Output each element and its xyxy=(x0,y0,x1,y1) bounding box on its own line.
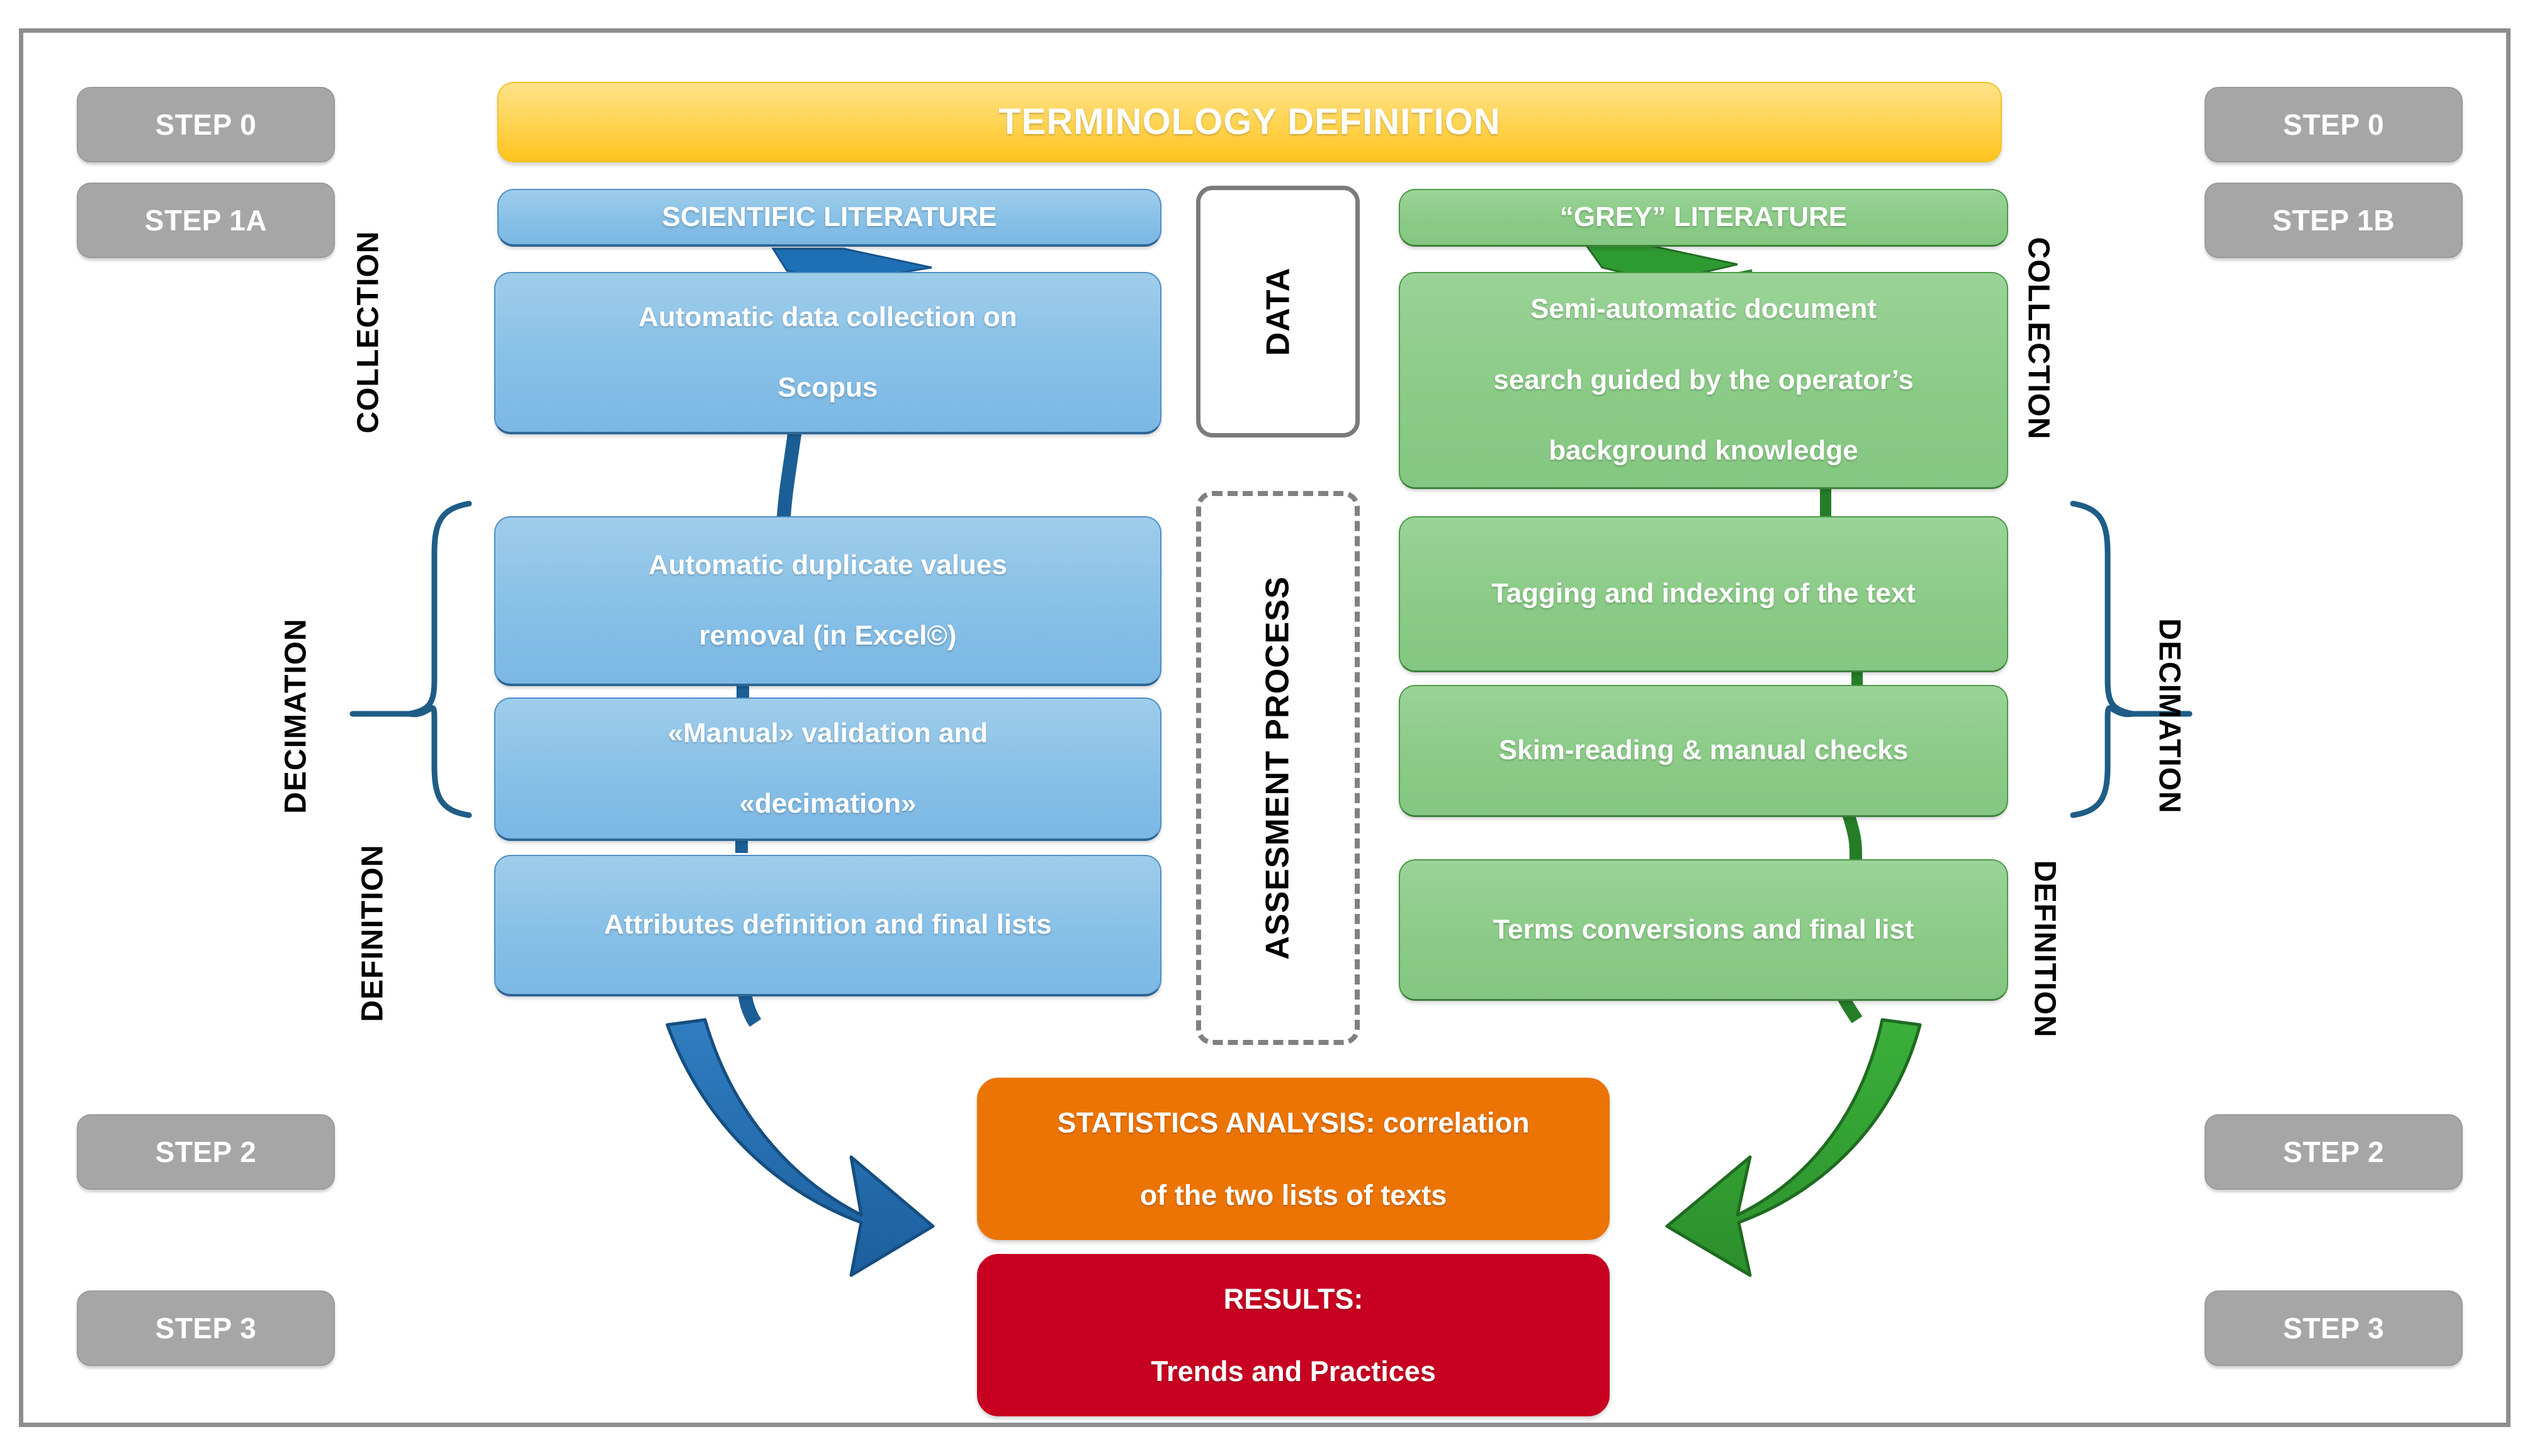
scientific-literature-label: SCIENTIFIC LITERATURE xyxy=(512,200,1146,235)
left-phase-label-decimation: DECIMATION xyxy=(279,578,314,855)
step-badge-right-2[interactable]: STEP 2 xyxy=(2205,1114,2463,1190)
results-label: RESULTS: Trends and Practices xyxy=(992,1281,1595,1390)
semi-auto-search-box: Semi-automatic document search guided by… xyxy=(1399,272,2008,489)
left-phase-label-collection: COLLECTION xyxy=(351,200,386,465)
semi-auto-search-label: Semi-automatic document search guided by… xyxy=(1414,291,1993,469)
skim-reading-label: Skim-reading & manual checks xyxy=(1414,733,1993,768)
duplicate-removal-label: Automatic duplicate values removal (in E… xyxy=(509,548,1146,654)
step-badge-left-2[interactable]: STEP 2 xyxy=(77,1114,335,1190)
right-phase-label-definition: DEFINITION xyxy=(2028,817,2062,1081)
step-badge-right-0[interactable]: STEP 0 xyxy=(2205,87,2463,162)
tagging-indexing-box: Tagging and indexing of the text xyxy=(1399,516,2008,672)
auto-collection-label: Automatic data collection on Scopus xyxy=(509,300,1146,406)
attributes-final-label: Attributes definition and final lists xyxy=(509,907,1146,942)
tagging-indexing-label: Tagging and indexing of the text xyxy=(1414,576,1993,611)
manual-validation-box: «Manual» validation and «decimation» xyxy=(494,697,1161,841)
data-container: DATA xyxy=(1196,186,1360,437)
terms-conversion-label: Terms conversions and final list xyxy=(1414,912,1993,947)
left-phase-label-definition: DEFINITION xyxy=(356,801,390,1066)
right-phase-label-collection: COLLECTION xyxy=(2021,206,2056,471)
scientific-literature-box: SCIENTIFIC LITERATURE xyxy=(497,189,1161,247)
statistics-analysis-box: STATISTICS ANALYSIS: correlation of the … xyxy=(977,1078,1610,1240)
step-badge-right-1b[interactable]: STEP 1B xyxy=(2205,183,2463,258)
right-phase-label-decimation: DECIMATION xyxy=(2152,578,2187,855)
skim-reading-box: Skim-reading & manual checks xyxy=(1399,685,2008,817)
grey-literature-box: “GREY” LITERATURE xyxy=(1399,189,2008,247)
auto-collection-box: Automatic data collection on Scopus xyxy=(494,272,1161,434)
diagram-canvas: STEP 0 STEP 1A STEP 2 STEP 3 STEP 0 STEP… xyxy=(0,0,2542,1456)
attributes-final-box: Attributes definition and final lists xyxy=(494,855,1161,996)
terminology-definition-title: TERMINOLOGY DEFINITION xyxy=(512,99,1987,145)
data-label: DATA xyxy=(1259,268,1297,356)
step-badge-left-0[interactable]: STEP 0 xyxy=(77,87,335,162)
manual-validation-label: «Manual» validation and «decimation» xyxy=(509,716,1146,822)
step-badge-left-3[interactable]: STEP 3 xyxy=(77,1290,335,1366)
statistics-analysis-label: STATISTICS ANALYSIS: correlation of the … xyxy=(992,1105,1595,1214)
grey-literature-label: “GREY” LITERATURE xyxy=(1414,200,1993,235)
step-badge-left-1a[interactable]: STEP 1A xyxy=(77,183,335,258)
duplicate-removal-box: Automatic duplicate values removal (in E… xyxy=(494,516,1161,686)
results-box: RESULTS: Trends and Practices xyxy=(977,1254,1610,1416)
terminology-definition-header: TERMINOLOGY DEFINITION xyxy=(497,82,2002,162)
terms-conversion-box: Terms conversions and final list xyxy=(1399,859,2008,1001)
step-badge-right-3[interactable]: STEP 3 xyxy=(2205,1290,2463,1366)
assessment-process-container: ASSESMENT PROCESS xyxy=(1196,491,1360,1045)
assessment-process-label: ASSESMENT PROCESS xyxy=(1259,576,1297,959)
